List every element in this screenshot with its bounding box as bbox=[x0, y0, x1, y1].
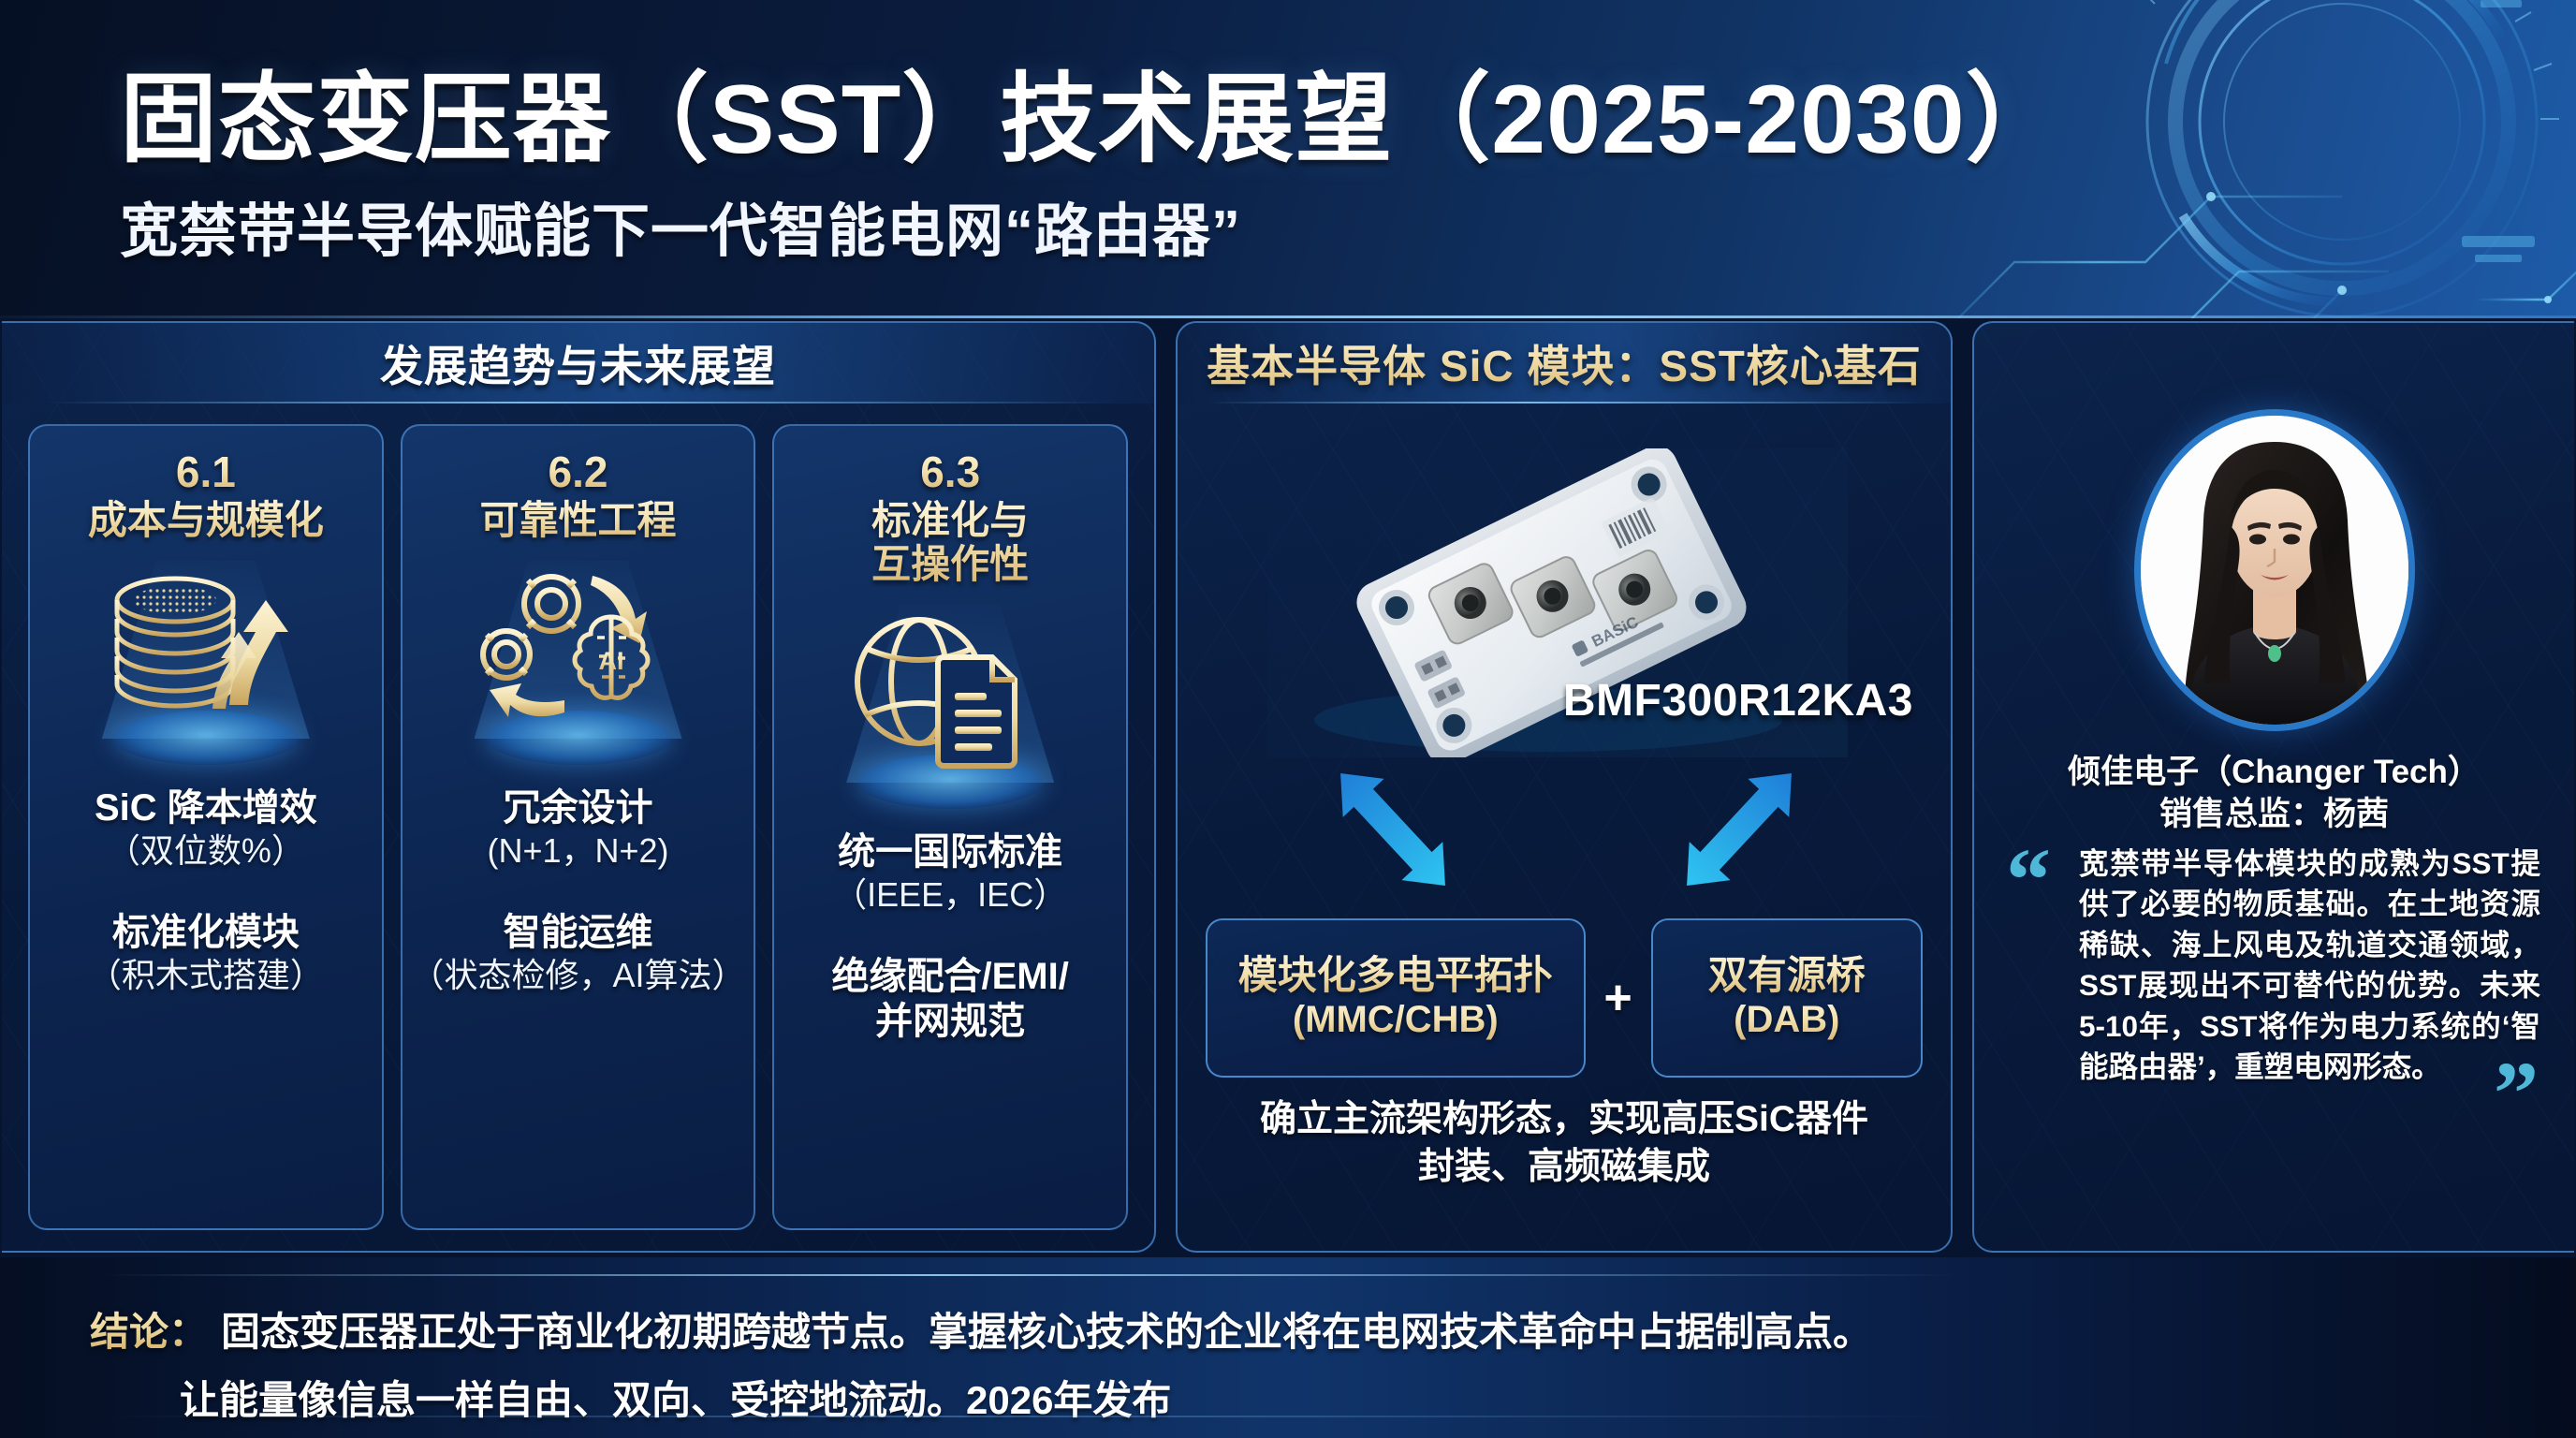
card-topic: 标准化与 互操作性 bbox=[871, 498, 1029, 586]
card-number: 6.3 bbox=[920, 450, 980, 494]
panel-trends-header: 发展趋势与未来展望 bbox=[2, 323, 1154, 404]
card-topic: 可靠性工程 bbox=[480, 498, 677, 542]
card-line-a: SiC 降本增效 bbox=[95, 785, 317, 830]
avatar bbox=[2134, 409, 2415, 731]
sic-caption: 确立主流架构形态，实现高压SiC器件 封装、高频磁集成 bbox=[1209, 1096, 1919, 1191]
card-line-group: 绝缘配合/EMI/ 并网规范 bbox=[832, 954, 1069, 1044]
panel-sic-module: 基本半导体 SiC 模块：SST核心基石 bbox=[1176, 321, 1953, 1253]
avatar-ring bbox=[2134, 409, 2415, 731]
card-number: 6.2 bbox=[549, 450, 608, 494]
card-line-a: 智能运维 bbox=[411, 910, 746, 955]
wafer-stack-growth-icon bbox=[89, 555, 323, 770]
card-line-group: 冗余设计 (N+1，N+2) bbox=[487, 785, 668, 873]
page-title: 固态变压器（SST）技术展望（2025-2030） bbox=[120, 39, 2064, 181]
quote-close-icon: ” bbox=[2494, 1066, 2539, 1121]
card-number: 6.1 bbox=[176, 450, 236, 494]
panel-trends-title: 发展趋势与未来展望 bbox=[380, 332, 776, 394]
body-columns: 发展趋势与未来展望 6.1 成本与规模化 bbox=[0, 321, 2576, 1255]
conclusion-label: 结论： bbox=[90, 1300, 208, 1357]
arch-box-subtitle: (MMC/CHB) bbox=[1293, 998, 1499, 1042]
trend-card[interactable]: 6.3 标准化与 互操作性 bbox=[772, 424, 1128, 1230]
conclusion-line-2: 让能量像信息一样自由、双向、受控地流动。2026年发布 bbox=[180, 1369, 2464, 1426]
module-part-number: BMF300R12KA3 bbox=[1563, 675, 1913, 726]
plus-sign: + bbox=[1586, 918, 1651, 1078]
globe-document-icon bbox=[833, 599, 1067, 814]
card-text-lines: SiC 降本增效 （双位数%） 标准化模块 （积木式搭建） bbox=[30, 785, 382, 1228]
conclusion-text-wrap: 结论： 固态变压器正处于商业化初期跨越节点。掌握核心技术的企业将在电网技术革命中… bbox=[90, 1300, 2464, 1426]
card-line-a: 标准化模块 bbox=[88, 910, 324, 955]
card-text-lines: 冗余设计 (N+1，N+2) 智能运维 （状态检修，AI算法） bbox=[402, 785, 754, 1228]
arch-box-subtitle: (DAB) bbox=[1734, 998, 1839, 1042]
card-line-a: 绝缘配合/EMI/ bbox=[832, 954, 1069, 999]
card-line-group: 统一国际标准 （IEEE，IEC） bbox=[833, 829, 1067, 917]
card-line-group: 标准化模块 （积木式搭建） bbox=[88, 910, 324, 997]
card-line-group: 智能运维 （状态检修，AI算法） bbox=[411, 910, 746, 997]
svg-text:AI: AI bbox=[598, 647, 623, 675]
card-line-b: （IEEE，IEC） bbox=[833, 874, 1067, 917]
card-line-b: 并网规范 bbox=[832, 999, 1069, 1044]
conclusion-line-1: 固态变压器正处于商业化初期跨越节点。掌握核心技术的企业将在电网技术革命中占据制高… bbox=[221, 1300, 1872, 1357]
panel-sic-title: 基本半导体 SiC 模块：SST核心基石 bbox=[1207, 332, 1922, 394]
card-line-b: （双位数%） bbox=[95, 830, 317, 873]
card-line-a: 冗余设计 bbox=[487, 785, 668, 830]
gears-ai-brain-icon: AI bbox=[461, 555, 695, 770]
arch-box-title: 模块化多电平拓扑 bbox=[1238, 953, 1553, 998]
panel-testimonial-body: 倾佳电子（Changer Tech） 销售总监：杨茜 “ 宽禁带半导体模块的成熟… bbox=[1974, 404, 2574, 1253]
panel-trends: 发展趋势与未来展望 6.1 成本与规模化 bbox=[2, 321, 1156, 1253]
trend-card[interactable]: 6.2 可靠性工程 bbox=[401, 424, 756, 1230]
quote-open-icon: “ bbox=[2006, 853, 2051, 907]
card-line-a: 统一国际标准 bbox=[833, 829, 1067, 874]
card-line-group: SiC 降本增效 （双位数%） bbox=[95, 785, 317, 873]
card-line-b: (N+1，N+2) bbox=[487, 830, 668, 873]
panel-sic-header: 基本半导体 SiC 模块：SST核心基石 bbox=[1178, 323, 1951, 404]
page-subtitle: 宽禁带半导体赋能下一代智能电网“路由器” bbox=[120, 183, 1241, 268]
bidirectional-arrows bbox=[1178, 736, 1951, 923]
header-banner: 固态变压器（SST）技术展望（2025-2030） 宽禁带半导体赋能下一代智能电… bbox=[0, 0, 2576, 318]
trend-card[interactable]: 6.1 成本与规模化 bbox=[28, 424, 384, 1230]
quote-text: 宽禁带半导体模块的成熟为SST提供了必要的物质基础。在土地资源稀缺、海上风电及轨… bbox=[2079, 844, 2540, 1088]
arch-box-dab[interactable]: 双有源桥 (DAB) bbox=[1651, 918, 1923, 1078]
arch-box-mmc[interactable]: 模块化多电平拓扑 (MMC/CHB) bbox=[1206, 918, 1586, 1078]
card-topic: 成本与规模化 bbox=[88, 498, 324, 542]
arch-box-title: 双有源桥 bbox=[1708, 953, 1866, 998]
card-text-lines: 统一国际标准 （IEEE，IEC） 绝缘配合/EMI/ 并网规范 bbox=[774, 829, 1126, 1228]
trend-card-list: 6.1 成本与规模化 bbox=[2, 404, 1154, 1253]
person-name: 倾佳电子（Changer Tech） 销售总监：杨茜 bbox=[1991, 752, 2557, 836]
card-line-b: （状态检修，AI算法） bbox=[411, 955, 746, 997]
infographic-canvas: 固态变压器（SST）技术展望（2025-2030） 宽禁带半导体赋能下一代智能电… bbox=[0, 0, 2576, 1438]
conclusion-bar: 结论： 固态变压器正处于商业化初期跨越节点。掌握核心技术的企业将在电网技术革命中… bbox=[0, 1257, 2576, 1438]
panel-testimonial: 倾佳电子（Changer Tech） 销售总监：杨茜 “ 宽禁带半导体模块的成熟… bbox=[1972, 321, 2574, 1253]
card-line-b: （积木式搭建） bbox=[88, 955, 324, 997]
panel-sic-body: BASiC bbox=[1178, 404, 1951, 1253]
conclusion-line-1-row: 结论： 固态变压器正处于商业化初期跨越节点。掌握核心技术的企业将在电网技术革命中… bbox=[90, 1300, 2464, 1357]
architecture-row: 模块化多电平拓扑 (MMC/CHB) + 双有源桥 (DAB) bbox=[1206, 918, 1923, 1078]
